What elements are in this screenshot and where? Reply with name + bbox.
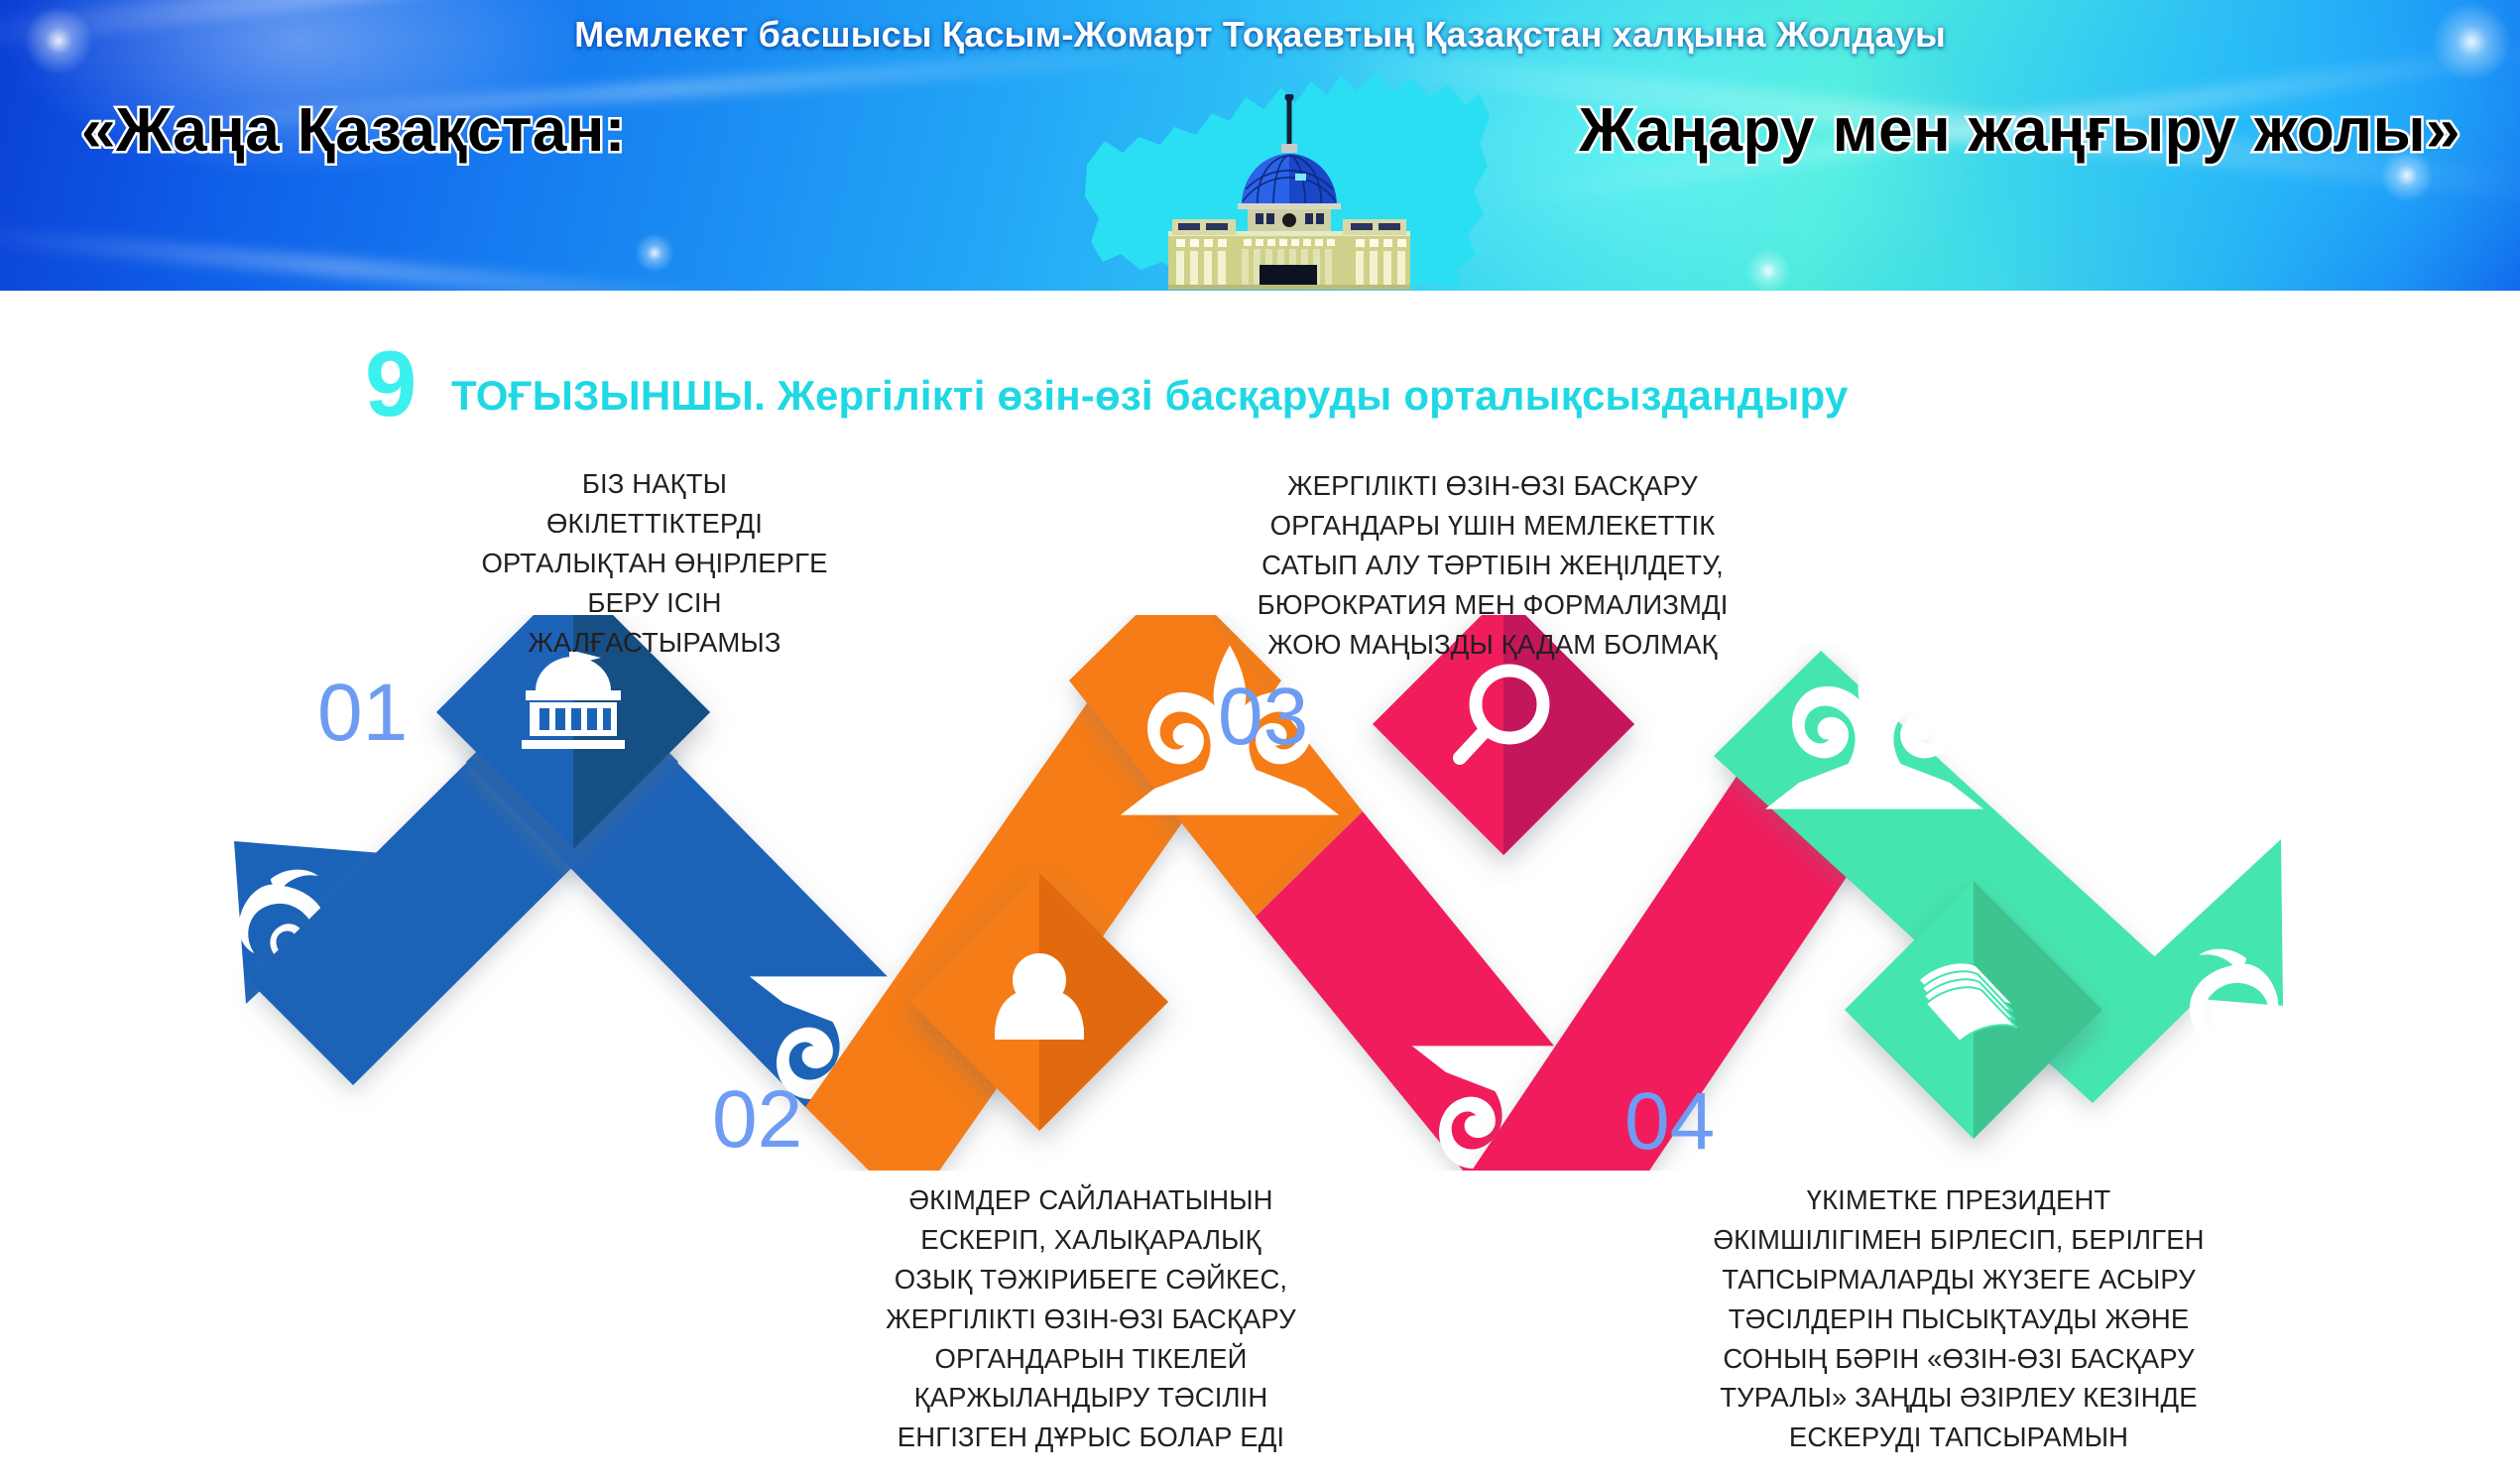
- text-line: ТУРАЛЫ» ЗАҢДЫ ӘЗІРЛЕУ КЕЗІНДЕ: [1617, 1378, 2301, 1418]
- text-line: БЕРУ ІСІН: [397, 583, 912, 623]
- text-line: ӘКІМДЕР САЙЛАНАТЫНЫН: [783, 1180, 1398, 1220]
- header-banner: Мемлекет басшысы Қасым-Жомарт Тоқаевтың …: [0, 0, 2520, 291]
- text-line: САТЫП АЛУ ТӘРТІБІН ЖЕҢІЛДЕТУ,: [1165, 546, 1820, 585]
- header-light-streak: [0, 223, 742, 291]
- text-line: СОНЫҢ БӘРІН «ӨЗІН-ӨЗІ БАСҚАРУ: [1617, 1339, 2301, 1379]
- text-line: ҮКІМЕТКЕ ПРЕЗИДЕНТ: [1617, 1180, 2301, 1220]
- text-line: ТАПСЫРМАЛАРДЫ ЖҮЗЕГЕ АСЫРУ: [1617, 1260, 2301, 1299]
- text-line: БІЗ НАҚТЫ: [397, 464, 912, 504]
- text-line: ОРГАНДАРЫ ҮШІН МЕМЛЕКЕТТІК: [1165, 506, 1820, 546]
- text-line: ЕСКЕРУДІ ТАПСЫРАМЫН: [1617, 1418, 2301, 1457]
- text-line: ЖЕРГІЛІКТІ ӨЗІН-ӨЗІ БАСҚАРУ: [1165, 466, 1820, 506]
- text-line: ОРТАЛЫҚТАН ӨҢІРЛЕРГЕ: [397, 544, 912, 583]
- section-number: 9: [365, 337, 417, 431]
- text-line: ӘКІМШІЛІГІМЕН БІРЛЕСІП, БЕРІЛГЕН: [1617, 1220, 2301, 1260]
- step-text-02: ӘКІМДЕР САЙЛАНАТЫНЫНЕСКЕРІП, ХАЛЫҚАРАЛЫҚ…: [783, 1180, 1398, 1457]
- header-title-left: «Жаңа Қазақстан:: [81, 95, 626, 166]
- header-subtitle: Мемлекет басшысы Қасым-Жомарт Тоқаевтың …: [0, 14, 2520, 56]
- akorda-palace-illustration: [1131, 94, 1448, 291]
- header-sparkle: [635, 233, 674, 273]
- text-line: ӨКІЛЕТТІКТЕРДІ: [397, 504, 912, 544]
- step-number-03: 03: [1218, 677, 1308, 758]
- text-line: ЕСКЕРІП, ХАЛЫҚАРАЛЫҚ: [783, 1220, 1398, 1260]
- section-title: ТОҒЫЗЫНШЫ. Жергілікті өзін-өзі басқаруды…: [451, 372, 1848, 420]
- text-line: ЖОЮ МАҢЫЗДЫ ҚАДАМ БОЛМАҚ: [1165, 625, 1820, 665]
- step-number-04: 04: [1624, 1081, 1715, 1163]
- text-line: ОРГАНДАРЫН ТІКЕЛЕЙ: [783, 1339, 1398, 1379]
- header-title-right: Жаңару мен жаңғыру жолы»: [1579, 95, 2460, 166]
- step-number-02: 02: [712, 1079, 802, 1161]
- text-line: ЖЕРГІЛІКТІ ӨЗІН-ӨЗІ БАСҚАРУ: [783, 1299, 1398, 1339]
- text-line: ТӘСІЛДЕРІН ПЫСЫҚТАУДЫ ЖӘНЕ: [1617, 1299, 2301, 1339]
- step-text-03: ЖЕРГІЛІКТІ ӨЗІН-ӨЗІ БАСҚАРУОРГАНДАРЫ ҮШІ…: [1165, 466, 1820, 664]
- step-number-01: 01: [317, 673, 408, 754]
- text-line: ЕНГІЗГЕН ДҰРЫС БОЛАР ЕДІ: [783, 1418, 1398, 1457]
- text-line: БЮРОКРАТИЯ МЕН ФОРМАЛИЗМДІ: [1165, 585, 1820, 625]
- header-sparkle: [1745, 248, 1791, 291]
- text-line: ЖАЛҒАСТЫРАМЫЗ: [397, 623, 912, 663]
- text-line: ҚАРЖЫЛАНДЫРУ ТӘСІЛІН: [783, 1378, 1398, 1418]
- step-text-04: ҮКІМЕТКЕ ПРЕЗИДЕНТӘКІМШІЛІГІМЕН БІРЛЕСІП…: [1617, 1180, 2301, 1457]
- step-text-01: БІЗ НАҚТЫӨКІЛЕТТІКТЕРДІОРТАЛЫҚТАН ӨҢІРЛЕ…: [397, 464, 912, 662]
- text-line: ОЗЫҚ ТӘЖІРИБЕГЕ СӘЙКЕС,: [783, 1260, 1398, 1299]
